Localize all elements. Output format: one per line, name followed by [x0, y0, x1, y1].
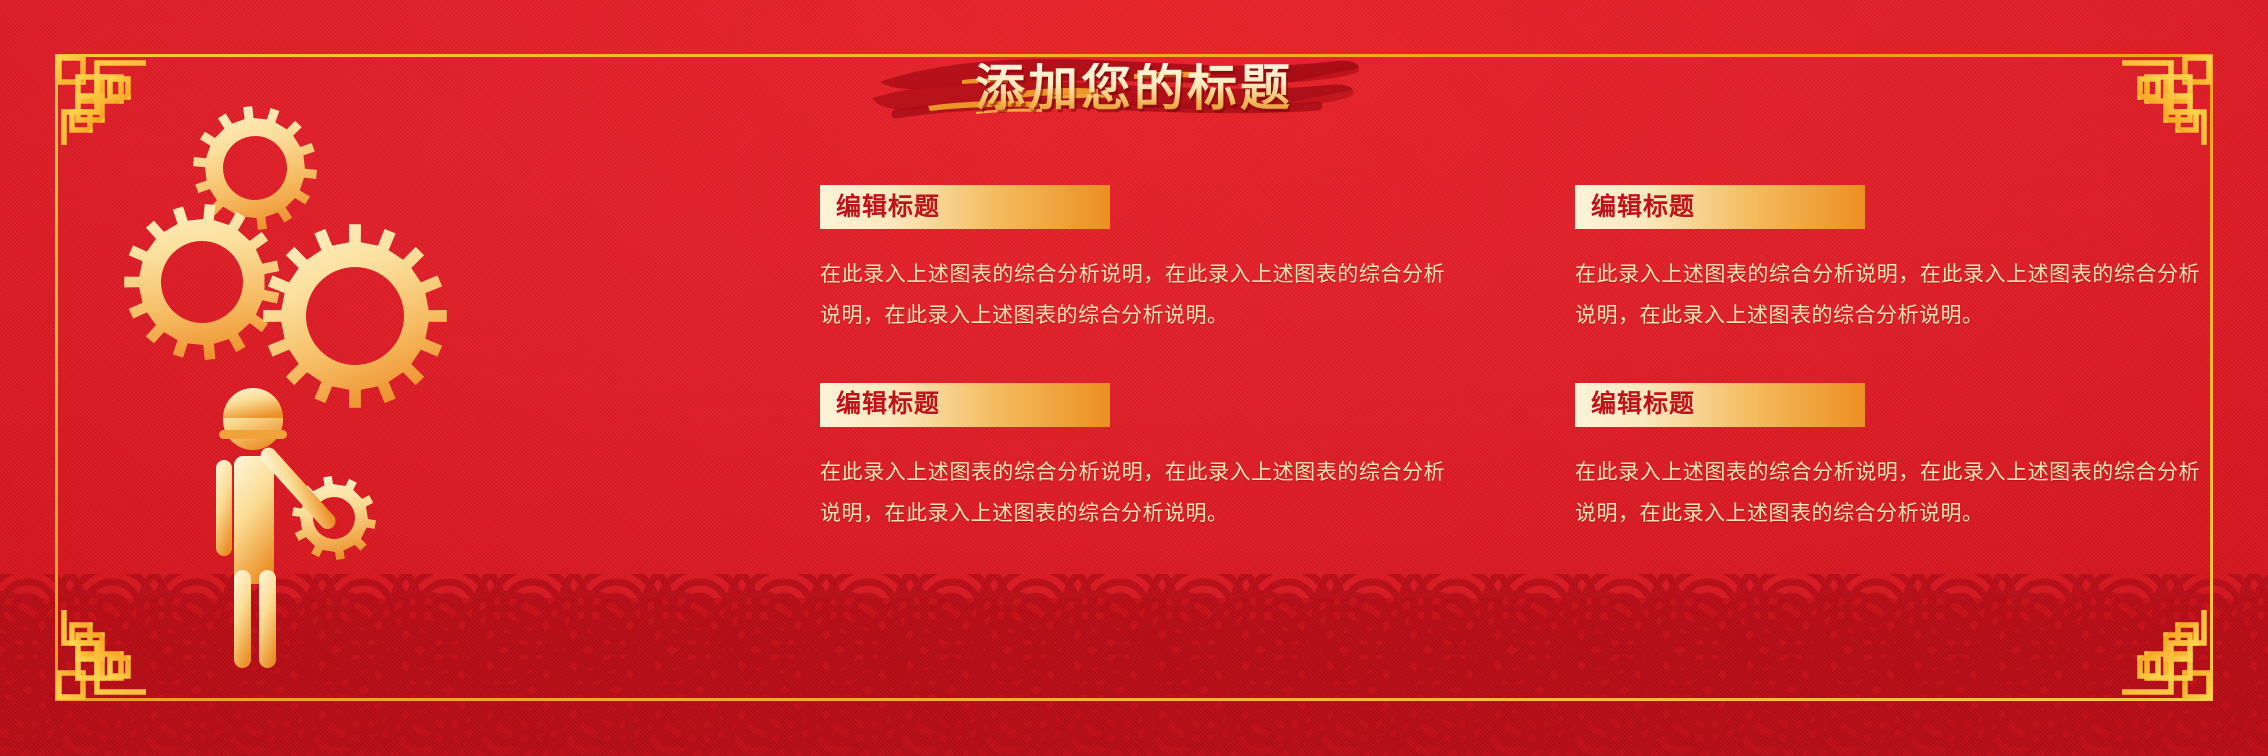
content-card: 编辑标题 在此录入上述图表的综合分析说明，在此录入上述图表的综合分析说明，在此录… — [820, 185, 1445, 337]
card-body-text: 在此录入上述图表的综合分析说明，在此录入上述图表的综合分析说明，在此录入上述图表… — [1575, 255, 2200, 337]
card-body-text: 在此录入上述图表的综合分析说明，在此录入上述图表的综合分析说明，在此录入上述图表… — [820, 255, 1445, 337]
card-body-text: 在此录入上述图表的综合分析说明，在此录入上述图表的综合分析说明，在此录入上述图表… — [820, 453, 1445, 535]
content-card: 编辑标题 在此录入上述图表的综合分析说明，在此录入上述图表的综合分析说明，在此录… — [820, 383, 1445, 535]
title-block: 添加您的标题 — [0, 34, 2268, 120]
gears-and-worker-illustration — [150, 100, 550, 660]
content-grid: 编辑标题 在此录入上述图表的综合分析说明，在此录入上述图表的综合分析说明，在此录… — [820, 185, 2180, 535]
card-heading-bar[interactable]: 编辑标题 — [820, 185, 1110, 229]
card-heading-label: 编辑标题 — [1591, 195, 1695, 220]
card-heading-label: 编辑标题 — [1591, 392, 1695, 417]
card-heading-label: 编辑标题 — [836, 392, 940, 417]
card-heading-label: 编辑标题 — [836, 195, 940, 220]
presentation-slide: 添加您的标题 — [0, 0, 2268, 756]
corner-ornament-icon — [34, 610, 146, 722]
card-heading-bar[interactable]: 编辑标题 — [1575, 383, 1865, 427]
page-title: 添加您的标题 — [975, 63, 1293, 113]
content-card: 编辑标题 在此录入上述图表的综合分析说明，在此录入上述图表的综合分析说明，在此录… — [1575, 383, 2200, 535]
card-heading-bar[interactable]: 编辑标题 — [820, 383, 1110, 427]
card-body-text: 在此录入上述图表的综合分析说明，在此录入上述图表的综合分析说明，在此录入上述图表… — [1575, 453, 2200, 535]
content-card: 编辑标题 在此录入上述图表的综合分析说明，在此录入上述图表的综合分析说明，在此录… — [1575, 185, 2200, 337]
corner-ornament-icon — [2122, 610, 2234, 722]
card-heading-bar[interactable]: 编辑标题 — [1575, 185, 1865, 229]
